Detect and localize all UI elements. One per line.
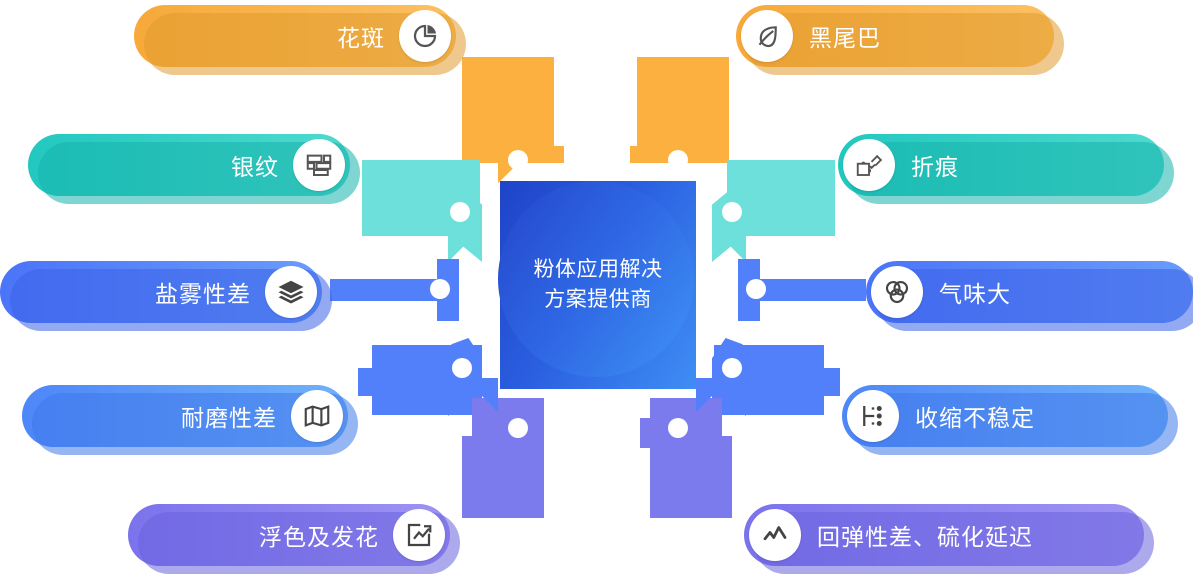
node-label-huitanxingcha: 回弹性差、硫化延迟 [817,518,1033,552]
node-label-yinwen: 银纹 [231,148,279,182]
node-label-yanwuxingcha: 盐雾性差 [155,275,251,309]
center-label: 粉体应用解决 方案提供商 [500,181,696,389]
connector-dot-huaban [508,150,528,170]
leaf-icon [741,10,793,62]
pill-shadow [876,269,1193,331]
center-label-line2: 方案提供商 [544,285,652,315]
map-icon [291,390,343,442]
connector-dot-heiweiba [668,150,688,170]
brick-wall-icon [293,139,345,191]
node-label-qiweida: 气味大 [939,275,1011,309]
puzzle-icon [843,139,895,191]
node-yanwuxingcha[interactable]: 盐雾性差 [0,261,322,323]
center-node: 粉体应用解决 方案提供商 [500,181,696,389]
node-label-fusejifahua: 浮色及发花 [259,518,379,552]
connector-dot-zhehen [722,202,742,222]
sitemap-icon [847,390,899,442]
connector-dot-yinwen [450,202,470,222]
pill-shadow [746,13,1064,75]
connector-naimoxingcha-tail [358,368,392,396]
pill-shadow [848,142,1174,204]
node-shousuobuwending[interactable]: 收缩不稳定 [842,385,1168,447]
recycle-icon [871,266,923,318]
node-heiweiba[interactable]: 黑尾巴 [736,5,1054,67]
layers-icon [265,266,317,318]
node-naimoxingcha[interactable]: 耐磨性差 [22,385,348,447]
node-fusejifahua[interactable]: 浮色及发花 [128,504,450,566]
connector-fuse-tail [462,436,488,518]
connector-huitan-tail [706,436,732,518]
node-label-heiweiba: 黑尾巴 [809,19,881,53]
pie-chart-icon [399,10,451,62]
connector-dot-naimoxingcha [452,358,472,378]
infographic-diagram: 粉体应用解决 方案提供商 花斑 黑尾巴 银纹 [0,0,1193,577]
node-label-zhehen: 折痕 [911,148,959,182]
connector-dot-fuse [508,418,528,438]
node-label-naimoxingcha: 耐磨性差 [181,399,277,433]
node-label-shousuobuwending: 收缩不稳定 [915,399,1035,433]
node-qiweida[interactable]: 气味大 [866,261,1193,323]
connector-dot-huitan [668,418,688,438]
center-label-line1: 粉体应用解决 [534,255,663,285]
connector-dot-shousuo [722,358,742,378]
node-huitanxingcha[interactable]: 回弹性差、硫化延迟 [744,504,1144,566]
node-zhehen[interactable]: 折痕 [838,134,1164,196]
node-huaban[interactable]: 花斑 [134,5,456,67]
connector-dot-qiweida [746,279,766,299]
trend-up-icon [393,509,445,561]
node-label-huaban: 花斑 [337,19,385,53]
node-yinwen[interactable]: 银纹 [28,134,350,196]
connector-dot-yanwuxingcha [430,279,450,299]
connector-shousuo-tail [806,368,840,396]
line-chart-icon [749,509,801,561]
